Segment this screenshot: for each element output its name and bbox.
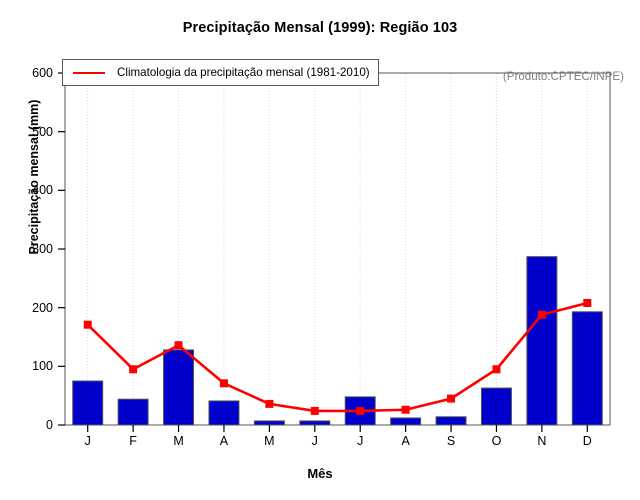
- climatology-marker: [492, 365, 500, 373]
- climatology-line: [88, 303, 588, 411]
- product-watermark: (Produto:CPTEC/INPE): [503, 70, 624, 83]
- bar: [300, 421, 330, 425]
- climatology-marker: [538, 311, 546, 319]
- precipitation-chart: Precipitação Mensal (1999): Região 103 P…: [0, 0, 640, 500]
- climatology-marker: [129, 365, 137, 373]
- bar: [118, 399, 148, 425]
- climatology-marker: [311, 407, 319, 415]
- bar: [254, 421, 284, 425]
- climatology-marker: [356, 407, 364, 415]
- legend-entry-label: Climatologia da precipitação mensal (198…: [117, 66, 370, 79]
- climatology-marker: [447, 395, 455, 403]
- bar: [572, 312, 602, 425]
- legend: Climatologia da precipitação mensal (198…: [62, 59, 379, 86]
- climatology-marker: [220, 379, 228, 387]
- climatology-marker: [84, 321, 92, 329]
- climatology-marker: [402, 406, 410, 414]
- bar: [391, 418, 421, 425]
- climatology-marker: [583, 299, 591, 307]
- climatology-marker: [265, 400, 273, 408]
- climatology-marker: [175, 341, 183, 349]
- red-line-icon: [73, 72, 105, 74]
- bar: [73, 381, 103, 425]
- bar: [527, 257, 557, 425]
- bar: [164, 350, 194, 425]
- bar: [436, 417, 466, 425]
- bar: [481, 388, 511, 425]
- bar: [209, 401, 239, 425]
